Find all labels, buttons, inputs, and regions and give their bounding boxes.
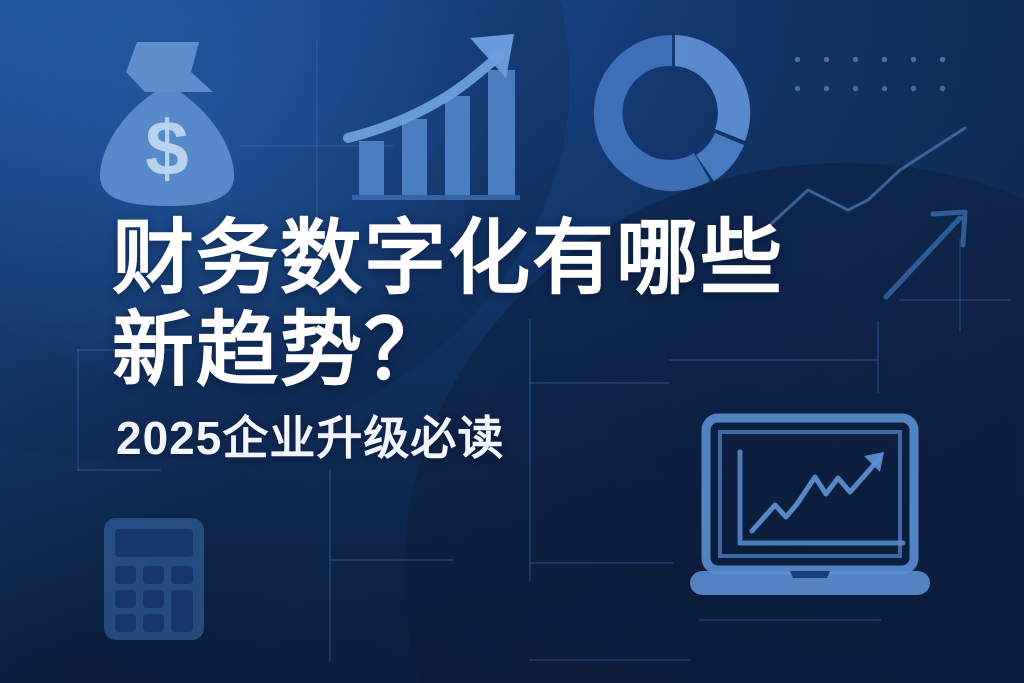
poster-text-block: 财务数字化有哪些 新趋势？ 2025企业升级必读 — [112, 213, 942, 464]
poster-canvas: $ — [0, 0, 1024, 683]
page-title: 财务数字化有哪些 新趋势？ — [112, 213, 942, 397]
dot-grid-pattern — [780, 42, 958, 114]
page-subtitle: 2025企业升级必读 — [116, 413, 942, 465]
